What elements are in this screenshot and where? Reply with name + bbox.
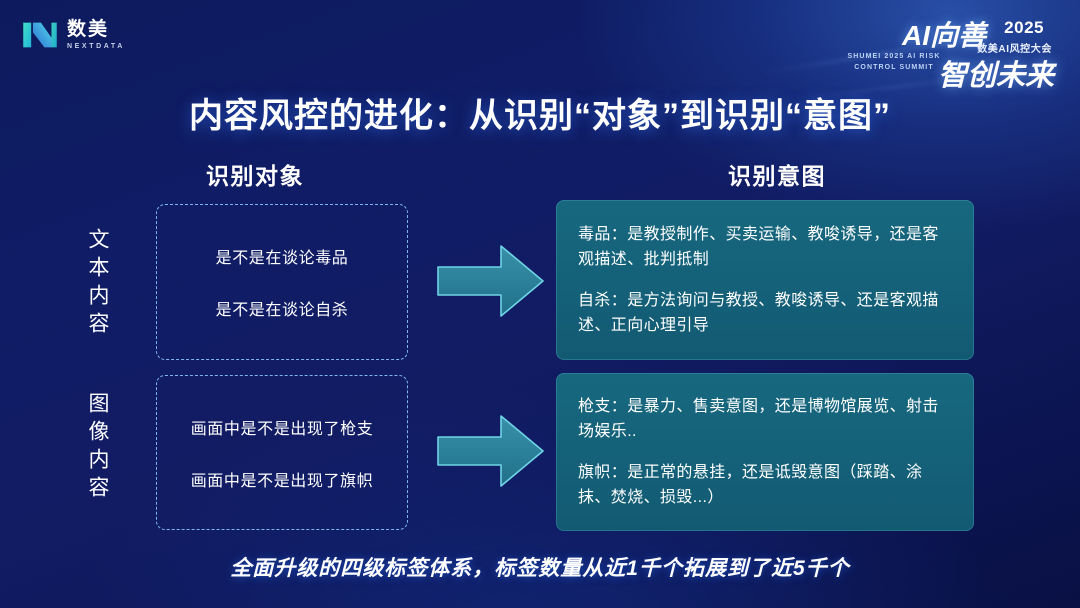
logo-name-en: NEXTDATA <box>67 43 125 50</box>
row-label-image-content: 图像内容 <box>74 392 108 504</box>
object-box-text: 是不是在谈论毒品 是不是在谈论自杀 <box>156 204 408 360</box>
intent-description: 自杀：是方法询问与教授、教唆诱导、还是客观描述、正向心理引导 <box>578 289 952 339</box>
logo-name-cn: 数美 <box>67 20 125 39</box>
event-title-line1: AI向善 <box>902 14 986 54</box>
page-title: 内容风控的进化：从识别“对象”到识别“意图” <box>0 88 1080 137</box>
event-branding: AI向善 2025 数美AI风控大会 智创未来 SHUMEI 2025 AI R… <box>834 8 1064 94</box>
intent-description: 毒品：是教授制作、买卖运输、教唆诱导，还是客观描述、批判抵制 <box>578 223 952 273</box>
object-question: 是不是在谈论自杀 <box>216 296 349 320</box>
presentation-slide: 数美 NEXTDATA AI向善 2025 数美AI风控大会 智创未来 SHUM… <box>0 0 1080 608</box>
object-question: 画面中是不是出现了旗帜 <box>191 467 374 491</box>
intent-description: 旗帜：是正常的悬挂，还是诋毁意图（踩踏、涂抹、焚烧、损毁...） <box>578 461 952 511</box>
right-arrow-icon <box>437 413 545 489</box>
intent-box-text: 毒品：是教授制作、买卖运输、教唆诱导，还是客观描述、批判抵制 自杀：是方法询问与… <box>556 200 974 360</box>
nextdata-m-logo-icon <box>22 20 58 50</box>
object-question: 是不是在谈论毒品 <box>216 244 349 268</box>
intent-box-image: 枪支：是暴力、售卖意图，还是博物馆展览、射击场娱乐.. 旗帜：是正常的悬挂，还是… <box>556 373 974 531</box>
object-question: 画面中是不是出现了枪支 <box>191 415 374 439</box>
right-arrow-icon <box>437 243 545 319</box>
event-title-en: SHUMEI 2025 AI RISK CONTROL SUMMIT <box>838 52 950 74</box>
column-header-intent: 识别意图 <box>728 157 826 191</box>
company-logo: 数美 NEXTDATA <box>22 20 125 50</box>
slide-caption: 全面升级的四级标签体系，标签数量从近1千个拓展到了近5千个 <box>0 552 1080 582</box>
intent-description: 枪支：是暴力、售卖意图，还是博物馆展览、射击场娱乐.. <box>578 395 952 445</box>
object-box-image: 画面中是不是出现了枪支 画面中是不是出现了旗帜 <box>156 375 408 530</box>
event-year: 2025 <box>1004 18 1044 38</box>
logo-text-block: 数美 NEXTDATA <box>67 20 125 50</box>
column-header-object: 识别对象 <box>206 157 304 191</box>
row-label-text-content: 文本内容 <box>74 228 108 340</box>
